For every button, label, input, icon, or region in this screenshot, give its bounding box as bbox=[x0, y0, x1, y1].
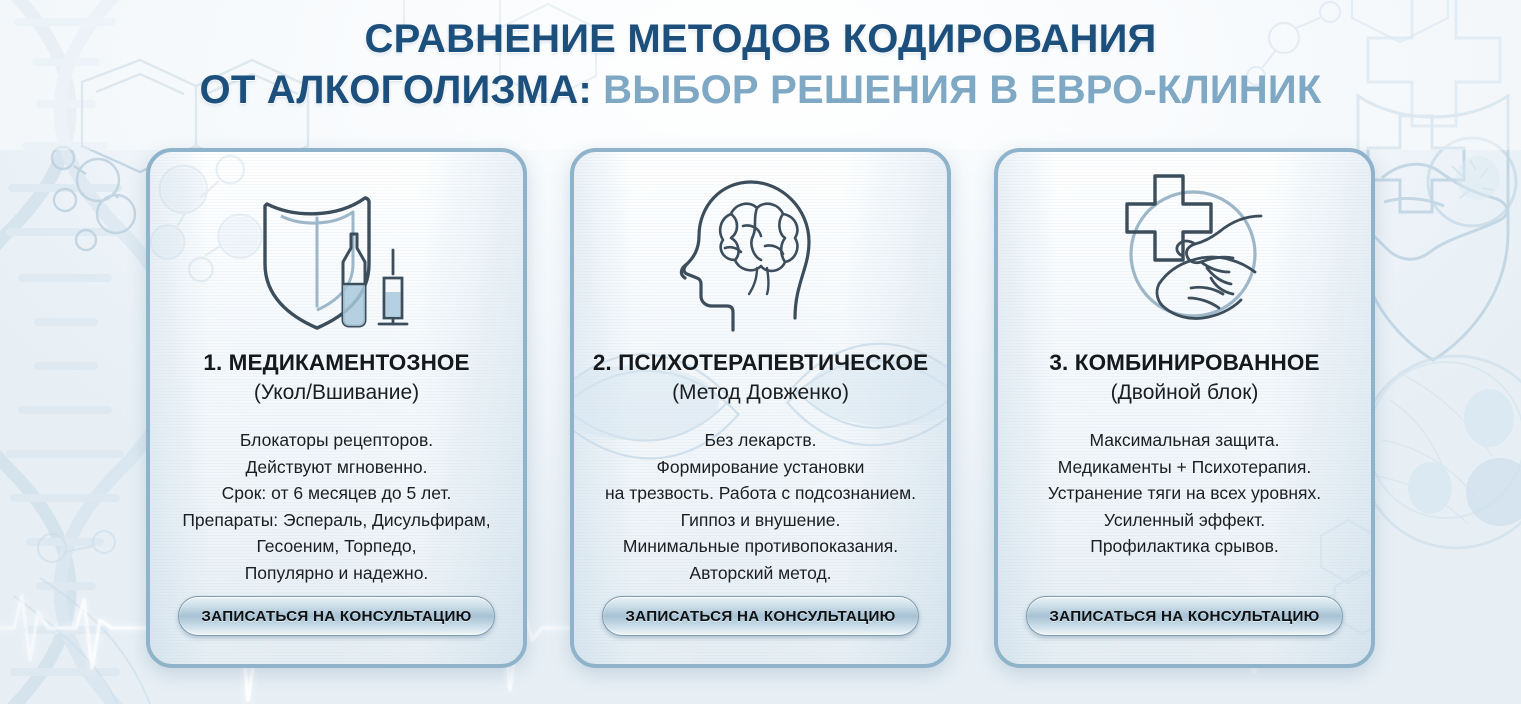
head-brain-icon bbox=[661, 168, 861, 338]
card-body-line: Гиппоз и внушение. bbox=[605, 507, 916, 534]
card-subheading: (Метод Довженко) bbox=[672, 381, 849, 405]
card-body-line: Профилактика срывов. bbox=[1048, 533, 1321, 560]
card-body-line: Формирование установки bbox=[605, 454, 916, 481]
method-card-psychotherapy[interactable]: 2. ПСИХОТЕРАПЕВТИЧЕСКОЕ (Метод Довженко)… bbox=[570, 148, 951, 668]
page-title: СРАВНЕНИЕ МЕТОДОВ КОДИРОВАНИЯ ОТ АЛКОГОЛ… bbox=[0, 16, 1521, 114]
card-body-line: Действуют мгновенно. bbox=[182, 454, 490, 481]
card-subheading: (Двойной блок) bbox=[1111, 381, 1259, 405]
method-cards-row: 1. МЕДИКАМЕНТОЗНОЕ (Укол/Вшивание) Блока… bbox=[146, 148, 1375, 668]
book-consultation-button[interactable]: ЗАПИСАТЬСЯ НА КОНСУЛЬТАЦИЮ bbox=[1026, 596, 1342, 636]
infographic-canvas: СРАВНЕНИЕ МЕТОДОВ КОДИРОВАНИЯ ОТ АЛКОГОЛ… bbox=[0, 0, 1521, 704]
cta-container: ЗАПИСАТЬСЯ НА КОНСУЛЬТАЦИЮ bbox=[574, 596, 947, 636]
cta-container: ЗАПИСАТЬСЯ НА КОНСУЛЬТАЦИЮ bbox=[150, 596, 523, 636]
book-consultation-button[interactable]: ЗАПИСАТЬСЯ НА КОНСУЛЬТАЦИЮ bbox=[178, 596, 494, 636]
cell-cluster-icon bbox=[1360, 138, 1521, 548]
card-body-line: на трезвость. Работа с подсознанием. bbox=[605, 480, 916, 507]
title-line-secondary: ОТ АЛКОГОЛИЗМА: ВЫБОР РЕШЕНИЯ В ЕВРО-КЛИ… bbox=[0, 67, 1521, 114]
card-body-line: Усиленный эффект. bbox=[1048, 507, 1321, 534]
card-body-line: Популярно и надежно. bbox=[182, 560, 490, 587]
card-body-line: Гесоеним, Торпедо, bbox=[182, 533, 490, 560]
card-heading: 1. МЕДИКАМЕНТОЗНОЕ bbox=[203, 350, 469, 376]
title-line-primary: СРАВНЕНИЕ МЕТОДОВ КОДИРОВАНИЯ bbox=[0, 16, 1521, 63]
card-body-line: Максимальная защита. bbox=[1048, 427, 1321, 454]
card-body: Блокаторы рецепторов. Действуют мгновенн… bbox=[172, 427, 500, 587]
card-body: Без лекарств. Формирование установки на … bbox=[595, 427, 926, 587]
card-body-line: Препараты: Эспераль, Дисульфирам, bbox=[182, 507, 490, 534]
cross-helping-hands-icon bbox=[1085, 168, 1285, 338]
method-card-combined[interactable]: 3. КОМБИНИРОВАННОЕ (Двойной блок) Максим… bbox=[994, 148, 1375, 668]
card-heading: 2. ПСИХОТЕРАПЕВТИЧЕСКОЕ bbox=[593, 350, 928, 376]
shield-ampoule-syringe-icon bbox=[237, 168, 437, 338]
shield-cross-hand-icon bbox=[1358, 96, 1508, 360]
card-heading: 3. КОМБИНИРОВАННОЕ bbox=[1049, 350, 1319, 376]
method-card-medication[interactable]: 1. МЕДИКАМЕНТОЗНОЕ (Укол/Вшивание) Блока… bbox=[146, 148, 527, 668]
card-body-line: Авторский метод. bbox=[605, 560, 916, 587]
card-body-line: Медикаменты + Психотерапия. bbox=[1048, 454, 1321, 481]
card-body-line: Без лекарств. bbox=[605, 427, 916, 454]
card-body-line: Устранение тяги на всех уровнях. bbox=[1048, 480, 1321, 507]
card-subheading: (Укол/Вшивание) bbox=[254, 381, 419, 405]
card-body-line: Срок: от 6 месяцев до 5 лет. bbox=[182, 480, 490, 507]
card-body-line: Минимальные противопоказания. bbox=[605, 533, 916, 560]
card-body: Максимальная защита. Медикаменты + Психо… bbox=[1038, 427, 1331, 560]
title-segment-light: ВЫБОР РЕШЕНИЯ В ЕВРО-КЛИНИК bbox=[603, 68, 1321, 112]
cta-container: ЗАПИСАТЬСЯ НА КОНСУЛЬТАЦИЮ bbox=[998, 596, 1371, 636]
card-body-line: Блокаторы рецепторов. bbox=[182, 427, 490, 454]
title-segment-dark: ОТ АЛКОГОЛИЗМА: bbox=[200, 68, 592, 112]
book-consultation-button[interactable]: ЗАПИСАТЬСЯ НА КОНСУЛЬТАЦИЮ bbox=[602, 596, 918, 636]
